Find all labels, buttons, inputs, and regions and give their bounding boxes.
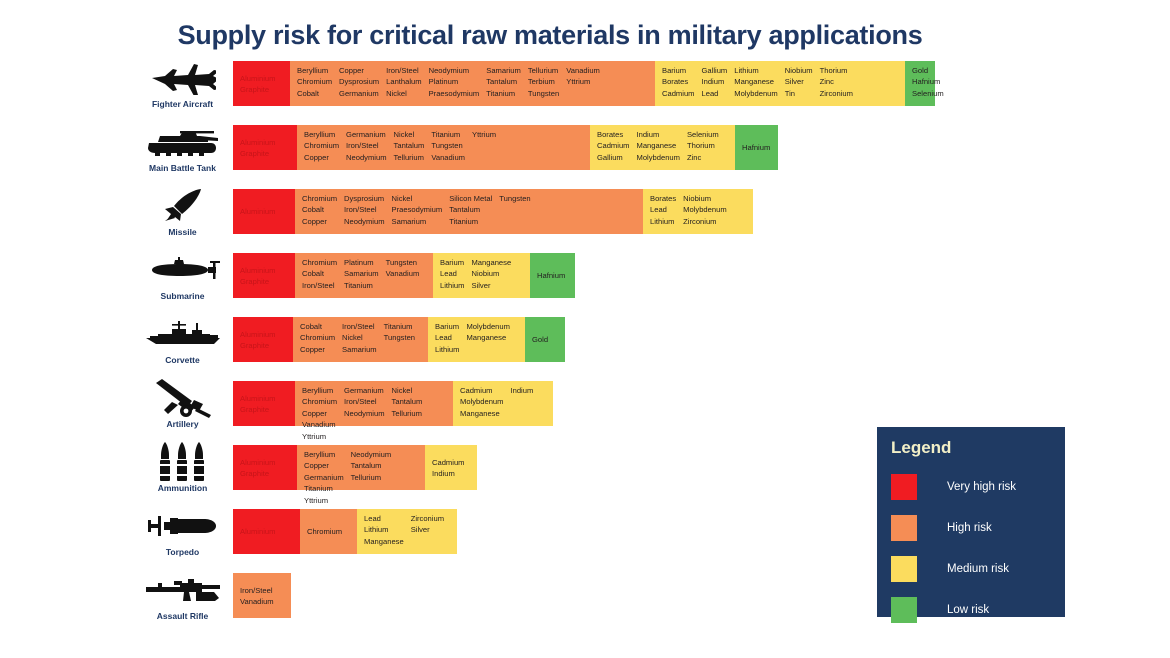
material-label: Indium [702,76,728,87]
material-label: Borates [597,129,630,140]
material-label: Manganese [637,140,680,151]
material-label: Niobium [785,65,813,76]
material-column: Yttrium [472,129,496,163]
material-label: Vanadium [431,152,465,163]
material-label: Silver [471,280,511,291]
matrix-row: Fighter AircraftAluminiumGraphiteBerylli… [0,58,1170,122]
material-label: Neodymium [429,65,480,76]
material-label: Copper [300,344,335,355]
material-label: Platinum [344,257,379,268]
material-label: Silver [411,524,444,535]
risk-segment-red: AluminiumGraphite [233,253,295,298]
material-label: Manganese [471,257,511,268]
risk-segment-yellow: BoratesLeadLithiumNiobiumMolybdenumZirco… [643,189,753,234]
material-label: Barium [440,257,464,268]
material-column: NickelTantalumTellurium [392,385,423,419]
material-label: Chromium [307,526,342,537]
main-battle-tank-icon [146,122,220,162]
material-label: Lead [440,268,464,279]
corvette-icon [142,314,224,354]
material-label: Neodymium [346,152,387,163]
risk-band: AluminiumGraphiteBerylliumCopperGermaniu… [233,445,477,490]
row-header-submarine: Submarine [130,250,235,314]
material-column: NickelTantalumTellurium [394,129,425,163]
material-column: VanadiumYttrium [566,65,600,99]
material-label: Titanium [486,88,521,99]
material-label: Zinc [687,152,719,163]
material-column: GermaniumIron/SteelNeodymium [346,129,387,163]
artillery-icon [152,378,214,418]
material-column: NickelPraesodymiumSamarium [392,193,443,227]
material-label: Thorium [687,140,719,151]
material-label: Thorium [820,65,853,76]
material-column: TelluriumTerbiumTungsten [528,65,559,99]
material-label: Titanium [431,129,465,140]
material-label: Graphite [240,148,275,159]
material-label: Iron/Steel [386,65,421,76]
material-label: Aluminium [240,393,275,404]
material-label: Graphite [240,468,275,479]
material-label: Samarium [392,216,443,227]
material-label: Selenium [687,129,719,140]
material-column: ZirconiumSilver [411,513,444,547]
material-column: NeodymiumTantalumTellurium [351,449,392,483]
yellow-swatch-icon [891,556,917,582]
material-label: Platinum [429,76,480,87]
risk-segment-red: Aluminium [233,509,300,554]
material-label: Lead [702,88,728,99]
legend-item: Medium risk [891,548,1065,589]
material-label: Molybdenum [637,152,680,163]
material-column: Aluminium [240,206,275,217]
row-label: Corvette [165,355,199,365]
material-label: Molybdenum [734,88,777,99]
material-column: Hafnium [742,142,770,153]
material-column: PlatinumSamariumTitanium [344,257,379,291]
material-label: Manganese [734,76,777,87]
material-column: ChromiumCobaltCopper [302,193,337,227]
material-label: Hafnium [912,76,944,87]
material-column: TitaniumTungsten [384,321,415,355]
material-label: Zirconium [820,88,853,99]
risk-segment-yellow: BoratesCadmiumGalliumIndiumManganeseMoly… [590,125,735,170]
material-label: Lithium [650,216,676,227]
material-column: MolybdenumManganese [466,321,509,355]
legend-item-list: Very high riskHigh riskMedium riskLow ri… [891,466,1065,630]
orange-swatch-icon [891,515,917,541]
risk-segment-green: Gold [525,317,565,362]
material-column: AluminiumGraphite [240,265,275,288]
row-header-assault-rifle: Assault Rifle [130,570,235,634]
material-label: Manganese [460,408,503,419]
material-label: Cobalt [300,321,335,332]
missile-icon [161,186,205,226]
material-label: Indium [637,129,680,140]
material-column: Aluminium [240,526,275,537]
material-label: Chromium [297,76,332,87]
material-label: Beryllium [302,385,337,396]
material-column: VanadiumYttrium [302,419,336,442]
red-swatch-icon [891,474,917,500]
material-label: Indium [510,385,533,396]
risk-band: Iron/SteelVanadium [233,573,291,618]
risk-band: AluminiumChromiumLeadLithiumManganeseZir… [233,509,457,554]
material-label: Nickel [342,332,377,343]
risk-segment-red: Aluminium [233,189,295,234]
matrix-row: MissileAluminiumChromiumCobaltCopperDysp… [0,186,1170,250]
material-column: TitaniumTungstenVanadium [431,129,465,163]
material-label: Graphite [240,84,275,95]
material-label: Tungsten [384,332,415,343]
material-column: CobaltChromiumCopper [300,321,335,355]
material-label: Gallium [702,65,728,76]
material-label: Nickel [394,129,425,140]
legend-title: Legend [891,438,1065,458]
material-column: TitaniumYttrium [304,483,333,506]
material-label: Lanthalum [386,76,421,87]
legend-panel: Legend Very high riskHigh riskMedium ris… [877,427,1065,617]
material-label: Vanadium [302,419,336,430]
risk-segment-orange: CobaltChromiumCopperIron/SteelNickelSama… [293,317,428,362]
matrix-row: CorvetteAluminiumGraphiteCobaltChromiumC… [0,314,1170,378]
risk-segment-orange: ChromiumCobaltCopperDysprosiumIron/Steel… [295,189,643,234]
material-label: Chromium [302,396,337,407]
material-column: BoratesCadmiumGallium [597,129,630,163]
material-label: Molybdenum [683,204,726,215]
material-label: Zirconium [411,513,444,524]
risk-segment-yellow: CadmiumIndium [425,445,477,490]
material-label: Tungsten [528,88,559,99]
material-label: Cadmium [460,385,503,396]
matrix-row: Main Battle TankAluminiumGraphiteBerylli… [0,122,1170,186]
material-label: Indium [432,468,465,479]
material-label: Cobalt [302,204,337,215]
material-label: Aluminium [240,73,275,84]
material-column: BariumBoratesCadmium [662,65,695,99]
risk-band: AluminiumGraphiteBerylliumChromiumCobalt… [233,61,935,106]
risk-segment-yellow: BariumLeadLithiumMolybdenumManganese [428,317,525,362]
material-label: Samarium [342,344,377,355]
material-label: Zirconium [683,216,726,227]
material-label: Vanadium [386,268,420,279]
material-label: Gallium [597,152,630,163]
risk-segment-green: GoldHafniumSelenium [905,61,935,106]
risk-band: AluminiumGraphiteCobaltChromiumCopperIro… [233,317,565,362]
material-column: AluminiumGraphite [240,393,275,416]
risk-segment-red: AluminiumGraphite [233,125,297,170]
row-label: Missile [168,227,196,237]
material-label: Iron/Steel [302,280,337,291]
material-label: Cadmium [662,88,695,99]
material-column: CadmiumMolybdenumManganese [460,385,503,419]
risk-segment-yellow: BariumBoratesCadmiumGalliumIndiumLeadLit… [655,61,905,106]
material-label: Samarium [344,268,379,279]
material-label: Tantalum [486,76,521,87]
material-label: Chromium [300,332,335,343]
material-column: ChromiumCobaltIron/Steel [302,257,337,291]
material-label: Selenium [912,88,944,99]
material-label: Nickel [386,88,421,99]
material-column: Tungsten [499,193,530,227]
material-label: Samarium [486,65,521,76]
material-label: Iron/Steel [342,321,377,332]
material-column: AluminiumGraphite [240,137,275,160]
material-label: Nickel [392,193,443,204]
material-label: Tin [785,88,813,99]
material-label: Tungsten [499,193,530,204]
material-label: Cobalt [297,88,332,99]
material-label: Copper [339,65,379,76]
material-column: BerylliumCopperGermanium [304,449,344,483]
material-label: Copper [302,408,337,419]
risk-band: AluminiumGraphiteBerylliumChromiumCopper… [233,125,778,170]
material-label: Niobium [683,193,726,204]
material-column: BariumLeadLithium [435,321,459,355]
material-label: Titanium [304,483,333,494]
risk-segment-orange: BerylliumChromiumCopperGermaniumIron/Ste… [295,381,453,426]
material-label: Graphite [240,340,275,351]
material-label: Germanium [304,472,344,483]
material-label: Iron/Steel [344,396,385,407]
row-header-fighter-aircraft: Fighter Aircraft [130,58,235,122]
material-column: GermaniumIron/SteelNeodymium [344,385,385,419]
material-label: Borates [650,193,676,204]
legend-label: Low risk [947,604,989,616]
material-label: Yttrium [304,495,333,506]
legend-item: High risk [891,507,1065,548]
material-label: Tantalum [351,460,392,471]
material-label: Tellurium [394,152,425,163]
risk-segment-orange: BerylliumCopperGermaniumNeodymiumTantalu… [297,445,425,490]
risk-segment-red: AluminiumGraphite [233,61,290,106]
risk-segment-orange: ChromiumCobaltIron/SteelPlatinumSamarium… [295,253,433,298]
material-label: Aluminium [240,265,275,276]
material-label: Lithium [734,65,777,76]
legend-label: Medium risk [947,563,1009,575]
material-label: Cobalt [302,268,337,279]
legend-item: Low risk [891,589,1065,630]
submarine-icon [144,250,222,290]
material-column: ThoriumZincZirconium [820,65,853,99]
row-label: Torpedo [166,547,199,557]
material-label: Praesodymium [429,88,480,99]
risk-segment-yellow: CadmiumMolybdenumManganeseIndium [453,381,553,426]
material-label: Hafnium [537,270,565,281]
material-label: Copper [304,152,339,163]
material-label: Lithium [435,344,459,355]
material-column: TungstenVanadium [386,257,420,291]
material-label: Tungsten [431,140,465,151]
matrix-row: SubmarineAluminiumGraphiteChromiumCobalt… [0,250,1170,314]
material-column: GalliumIndiumLead [702,65,728,99]
material-label: Germanium [346,129,387,140]
material-label: Aluminium [240,137,275,148]
material-label: Germanium [344,385,385,396]
risk-band: AluminiumGraphiteChromiumCobaltIron/Stee… [233,253,575,298]
material-column: BerylliumChromiumCobalt [297,65,332,99]
material-label: Vanadium [240,596,274,607]
material-label: Cadmium [432,457,465,468]
material-label: Chromium [302,257,337,268]
material-column: GoldHafniumSelenium [912,65,944,99]
material-label: Iron/Steel [240,585,274,596]
risk-segment-orange: Iron/SteelVanadium [233,573,291,618]
row-header-missile: Missile [130,186,235,250]
material-column: Hafnium [537,270,565,281]
row-label: Main Battle Tank [149,163,216,173]
material-label: Barium [662,65,695,76]
row-label: Submarine [161,291,205,301]
material-label: Yttrium [566,76,600,87]
material-label: Nickel [392,385,423,396]
legend-label: High risk [947,522,992,534]
material-label: Chromium [304,140,339,151]
material-label: Tantalum [394,140,425,151]
legend-label: Very high risk [947,481,1016,493]
material-label: Yttrium [472,129,496,140]
material-label: Neodymium [344,408,385,419]
material-label: Graphite [240,276,275,287]
material-label: Chromium [302,193,337,204]
material-label: Hafnium [742,142,770,153]
material-label: Titanium [449,216,492,227]
row-label: Fighter Aircraft [152,99,213,109]
material-label: Silicon Metal [449,193,492,204]
material-label: Aluminium [240,206,275,217]
row-header-main-battle-tank: Main Battle Tank [130,122,235,186]
material-label: Dysprosium [339,76,379,87]
risk-segment-yellow: LeadLithiumManganeseZirconiumSilver [357,509,457,554]
material-label: Cadmium [597,140,630,151]
material-label: Lead [435,332,459,343]
risk-segment-red: AluminiumGraphite [233,381,295,426]
material-label: Titanium [344,280,379,291]
material-label: Terbium [528,76,559,87]
row-header-torpedo: Torpedo [130,506,235,570]
material-label: Copper [304,460,344,471]
row-label: Ammunition [158,483,208,493]
material-column: BariumLeadLithium [440,257,464,291]
row-header-corvette: Corvette [130,314,235,378]
material-label: Tellurium [392,408,423,419]
page-title: Supply risk for critical raw materials i… [0,20,1100,51]
material-label: Dysprosium [344,193,385,204]
material-label: Iron/Steel [344,204,385,215]
ammunition-icon [156,442,210,482]
material-column: Indium [510,385,533,419]
material-label: Neodymium [344,216,385,227]
assault-rifle-icon [144,570,222,610]
risk-segment-red: AluminiumGraphite [233,317,293,362]
risk-segment-yellow: BariumLeadLithiumManganeseNiobiumSilver [433,253,530,298]
material-label: Germanium [339,88,379,99]
material-label: Lead [650,204,676,215]
material-label: Tellurium [528,65,559,76]
material-column: Iron/SteelLanthalumNickel [386,65,421,99]
material-column: DysprosiumIron/SteelNeodymium [344,193,385,227]
material-column: BerylliumChromiumCopper [302,385,337,419]
material-label: Tantalum [392,396,423,407]
risk-segment-orange: Chromium [300,509,357,554]
material-label: Lithium [364,524,404,535]
material-label: Molybdenum [460,396,503,407]
material-column: LeadLithiumManganese [364,513,404,547]
material-label: Manganese [466,332,509,343]
material-column: AluminiumGraphite [240,329,275,352]
material-label: Tantalum [449,204,492,215]
risk-segment-orange: BerylliumChromiumCobaltCopperDysprosiumG… [290,61,655,106]
risk-band: AluminiumGraphiteBerylliumChromiumCopper… [233,381,553,426]
material-label: Lead [364,513,404,524]
material-label: Beryllium [304,129,339,140]
risk-segment-orange: BerylliumChromiumCopperGermaniumIron/Ste… [297,125,590,170]
material-label: Barium [435,321,459,332]
material-label: Neodymium [351,449,392,460]
legend-item: Very high risk [891,466,1065,507]
material-column: AluminiumGraphite [240,73,275,96]
material-label: Tungsten [386,257,420,268]
material-column: SamariumTantalumTitanium [486,65,521,99]
material-column: NeodymiumPlatinumPraesodymium [429,65,480,99]
material-label: Graphite [240,404,275,415]
material-label: Silver [785,76,813,87]
material-label: Borates [662,76,695,87]
material-column: BoratesLeadLithium [650,193,676,227]
material-label: Aluminium [240,526,275,537]
torpedo-icon [148,506,218,546]
material-label: Gold [532,334,548,345]
risk-segment-red: AluminiumGraphite [233,445,297,490]
risk-segment-green: Hafnium [530,253,575,298]
material-column: CadmiumIndium [432,457,465,480]
risk-segment-green: Hafnium [735,125,778,170]
material-label: Gold [912,65,944,76]
material-column: CopperDysprosiumGermanium [339,65,379,99]
material-column: Gold [532,334,548,345]
material-label: Manganese [364,536,404,547]
material-label: Molybdenum [466,321,509,332]
material-column: NiobiumSilverTin [785,65,813,99]
material-label: Zinc [820,76,853,87]
material-column: BerylliumChromiumCopper [304,129,339,163]
material-column: Silicon MetalTantalumTitanium [449,193,492,227]
material-column: Chromium [307,526,342,537]
fighter-aircraft-icon [150,58,216,98]
material-label: Niobium [471,268,511,279]
material-column: Iron/SteelNickelSamarium [342,321,377,355]
material-label: Aluminium [240,329,275,340]
material-column: Iron/SteelVanadium [240,585,274,608]
material-label: Titanium [384,321,415,332]
material-column: AluminiumGraphite [240,457,275,480]
material-label: Beryllium [304,449,344,460]
green-swatch-icon [891,597,917,623]
row-header-artillery: Artillery [130,378,235,442]
row-label: Artillery [166,419,198,429]
material-label: Vanadium [566,65,600,76]
risk-band: AluminiumChromiumCobaltCopperDysprosiumI… [233,189,753,234]
material-label: Beryllium [297,65,332,76]
material-column: SeleniumThoriumZinc [687,129,719,163]
material-column: LithiumManganeseMolybdenum [734,65,777,99]
material-column: NiobiumMolybdenumZirconium [683,193,726,227]
material-label: Copper [302,216,337,227]
row-label: Assault Rifle [157,611,209,621]
material-label: Tellurium [351,472,392,483]
material-label: Aluminium [240,457,275,468]
material-column: ManganeseNiobiumSilver [471,257,511,291]
material-label: Yttrium [302,431,336,442]
